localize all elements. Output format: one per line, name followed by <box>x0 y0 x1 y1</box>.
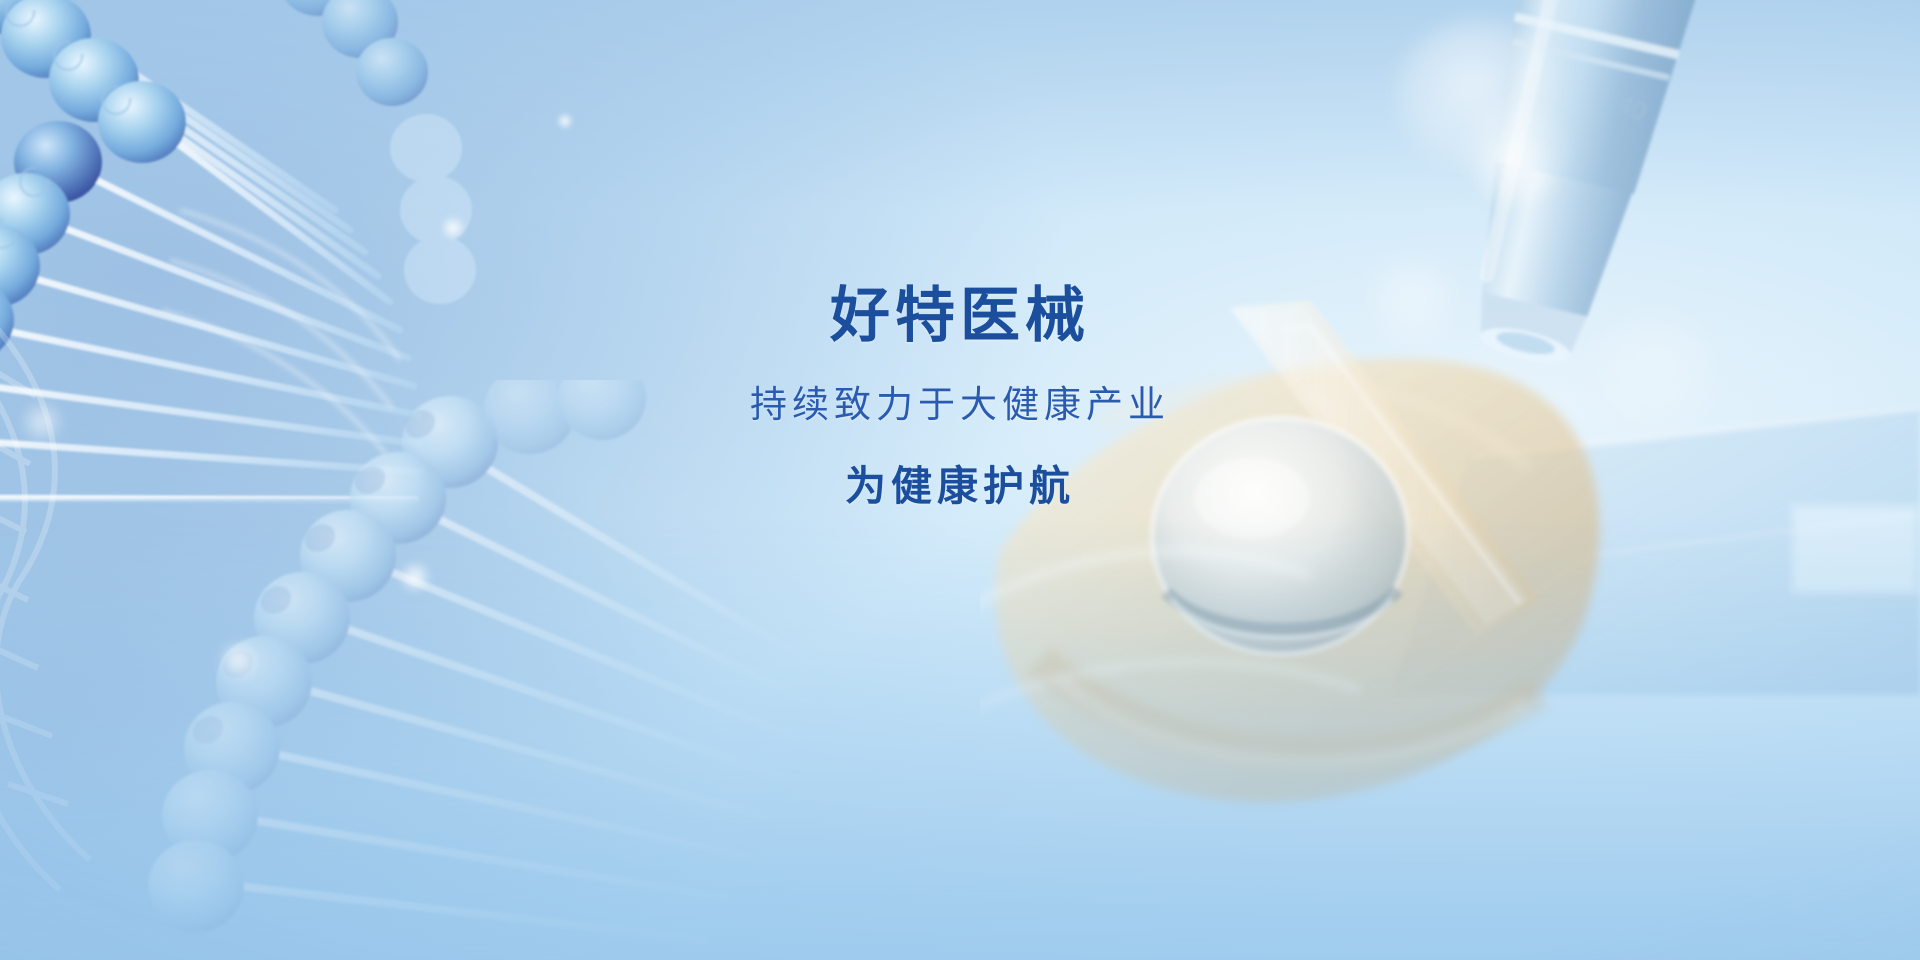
page-subtitle: 持续致力于大健康产业 <box>0 383 1920 427</box>
hero-copy-block: 好特医械 持续致力于大健康产业 为健康护航 <box>0 282 1920 511</box>
hero-banner: 40 <box>0 0 1920 960</box>
background-bottom-fade <box>0 518 1920 960</box>
page-tagline: 为健康护航 <box>0 462 1920 511</box>
page-title: 好特医械 <box>0 282 1920 349</box>
